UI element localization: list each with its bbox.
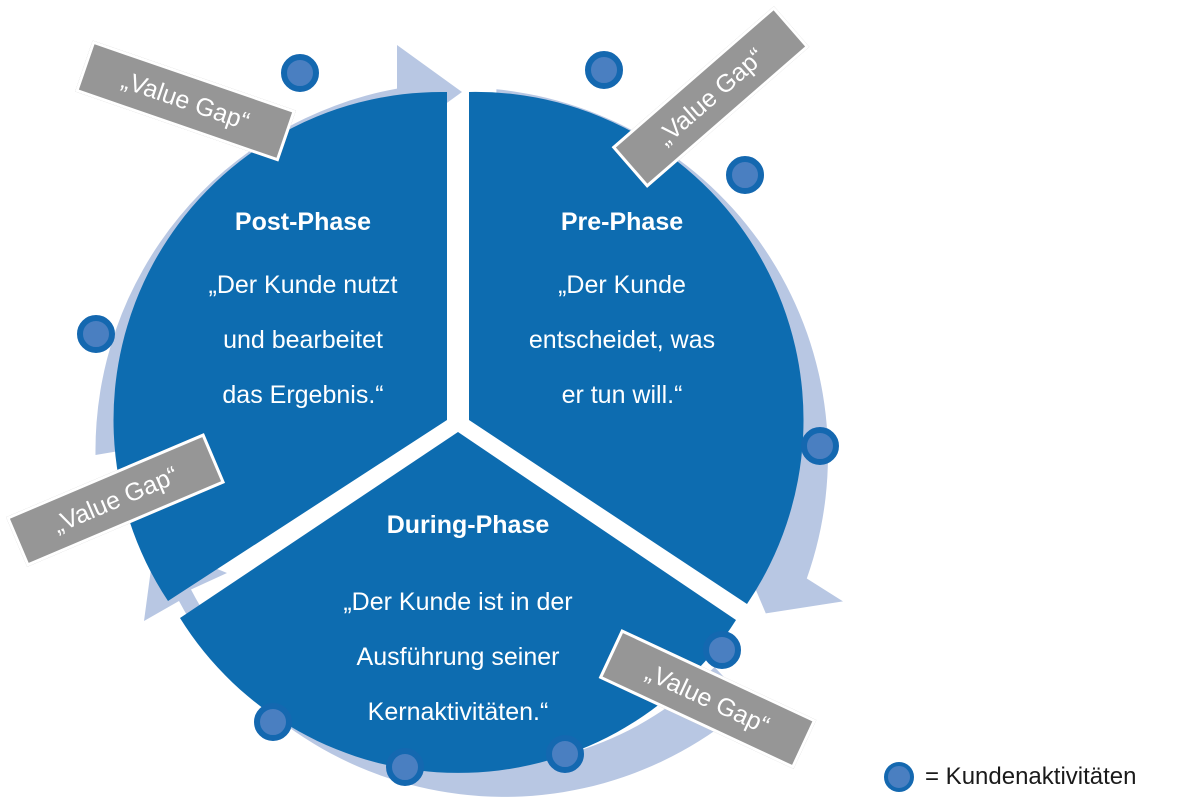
activity-dot[interactable] (729, 159, 761, 191)
activity-dot[interactable] (588, 54, 620, 86)
segment-pre-title: Pre-Phase (561, 208, 683, 236)
segment-during-line-1: „Der Kunde ist in der (343, 588, 572, 616)
activity-dot[interactable] (80, 318, 112, 350)
activity-dot[interactable] (804, 430, 836, 462)
activity-dot[interactable] (257, 706, 289, 738)
segment-post-line-1: „Der Kunde nutzt (209, 271, 398, 299)
activity-dot[interactable] (706, 634, 738, 666)
activity-dot-icon (884, 762, 914, 792)
segment-pre-line-2: entscheidet, was (529, 326, 715, 354)
segment-pre-line-3: er tun will.“ (562, 381, 683, 409)
activity-dot[interactable] (284, 57, 316, 89)
segment-post-title: Post-Phase (235, 208, 371, 236)
activity-dot[interactable] (549, 738, 581, 770)
segment-during-title: During-Phase (387, 511, 550, 539)
diagram-canvas: Pre-Phase „Der Kunde entscheidet, was er… (0, 0, 1184, 812)
segment-pre-line-1: „Der Kunde (558, 271, 686, 299)
activity-dot[interactable] (389, 751, 421, 783)
legend: = Kundenaktivitäten (884, 762, 1137, 792)
segment-during-line-3: Kernaktivitäten.“ (368, 698, 549, 726)
segment-post-line-2: und bearbeitet (223, 326, 383, 354)
segment-during-line-2: Ausführung seiner (357, 643, 560, 671)
legend-label: = Kundenaktivitäten (925, 763, 1137, 791)
segment-post-line-3: das Ergebnis.“ (222, 381, 383, 409)
